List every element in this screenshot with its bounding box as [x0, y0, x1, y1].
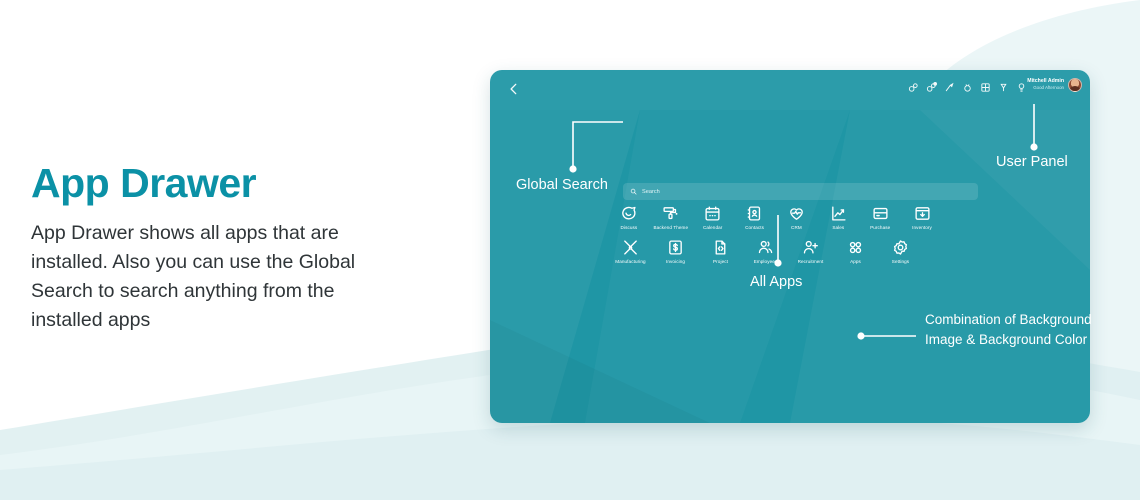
app-crm[interactable]: CRM — [776, 205, 818, 230]
lightbulb-icon[interactable] — [1016, 82, 1027, 93]
bulb-tip-icon[interactable] — [998, 82, 1009, 93]
app-label: Employees — [754, 259, 778, 264]
discuss-icon — [620, 205, 637, 222]
annotation-user-panel: User Panel — [996, 154, 1068, 170]
grid-icon[interactable] — [980, 82, 991, 93]
app-inventory[interactable]: Inventory — [901, 205, 943, 230]
recruitment-user-plus-icon — [802, 239, 819, 256]
app-grid: Discuss Backend Theme — [608, 205, 943, 264]
search-placeholder: Search — [642, 189, 660, 195]
app-label: Backend Theme — [653, 225, 688, 230]
crm-heart-icon — [788, 205, 805, 222]
app-recruitment[interactable]: Recruitment — [788, 239, 833, 264]
app-label: Discuss — [621, 225, 638, 230]
app-label: Manufacturing — [615, 259, 645, 264]
employees-icon — [757, 239, 774, 256]
app-label: Recruitment — [798, 259, 824, 264]
app-settings[interactable]: Settings — [878, 239, 923, 264]
annotation-all-apps: All Apps — [750, 274, 802, 290]
left-text-block: App Drawer App Drawer shows all apps tha… — [31, 162, 431, 334]
back-chevron-icon[interactable] — [507, 82, 521, 96]
app-invoicing[interactable]: Invoicing — [653, 239, 698, 264]
app-label: Calendar — [703, 225, 722, 230]
app-drawer-panel: Mitchell Admin Good Afternoon Search Dis… — [490, 70, 1090, 423]
sales-chart-icon — [830, 205, 847, 222]
page-title: App Drawer — [31, 162, 431, 205]
app-calendar[interactable]: Calendar — [692, 205, 734, 230]
app-label: Purchase — [870, 225, 890, 230]
app-sales[interactable]: Sales — [817, 205, 859, 230]
annotation-global-search: Global Search — [516, 177, 608, 193]
app-label: Inventory — [912, 225, 932, 230]
calendar-icon — [704, 205, 721, 222]
project-code-icon — [712, 239, 729, 256]
drawer-topbar: Mitchell Admin Good Afternoon — [490, 70, 1090, 110]
search-input[interactable]: Search — [623, 183, 978, 200]
app-label: Project — [713, 259, 728, 264]
link-icon[interactable] — [908, 82, 919, 93]
system-icon-group — [908, 82, 1027, 93]
contacts-icon — [746, 205, 763, 222]
app-row-1: Discuss Backend Theme — [608, 205, 943, 230]
app-backend-theme[interactable]: Backend Theme — [650, 205, 692, 230]
settings-gear-icon — [892, 239, 909, 256]
paint-roller-icon — [662, 205, 679, 222]
purchase-card-icon — [872, 205, 889, 222]
app-label: Apps — [850, 259, 861, 264]
inventory-box-icon — [914, 205, 931, 222]
app-purchase[interactable]: Purchase — [859, 205, 901, 230]
app-manufacturing[interactable]: Manufacturing — [608, 239, 653, 264]
app-row-2: Manufacturing Invoicing Project — [608, 239, 943, 264]
user-panel[interactable]: Mitchell Admin Good Afternoon — [1027, 78, 1082, 92]
app-label: CRM — [791, 225, 802, 230]
annotation-combination: Combination of Background Image & Backgr… — [925, 310, 1115, 349]
activity-icon[interactable] — [944, 82, 955, 93]
bug-icon[interactable] — [962, 82, 973, 93]
app-label: Invoicing — [666, 259, 685, 264]
app-label: Settings — [892, 259, 909, 264]
app-employees[interactable]: Employees — [743, 239, 788, 264]
app-label: Sales — [832, 225, 844, 230]
search-icon — [630, 188, 637, 195]
app-project[interactable]: Project — [698, 239, 743, 264]
user-text: Mitchell Admin Good Afternoon — [1027, 79, 1064, 90]
apps-dots-icon — [847, 239, 864, 256]
page-description: App Drawer shows all apps that are insta… — [31, 219, 391, 334]
app-discuss[interactable]: Discuss — [608, 205, 650, 230]
app-contacts[interactable]: Contacts — [734, 205, 776, 230]
invoicing-dollar-icon — [667, 239, 684, 256]
app-label: Contacts — [745, 225, 764, 230]
messages-icon[interactable] — [926, 82, 937, 93]
app-apps[interactable]: Apps — [833, 239, 878, 264]
user-greeting: Good Afternoon — [1027, 85, 1064, 90]
avatar[interactable] — [1068, 78, 1082, 92]
manufacturing-tools-icon — [622, 239, 639, 256]
